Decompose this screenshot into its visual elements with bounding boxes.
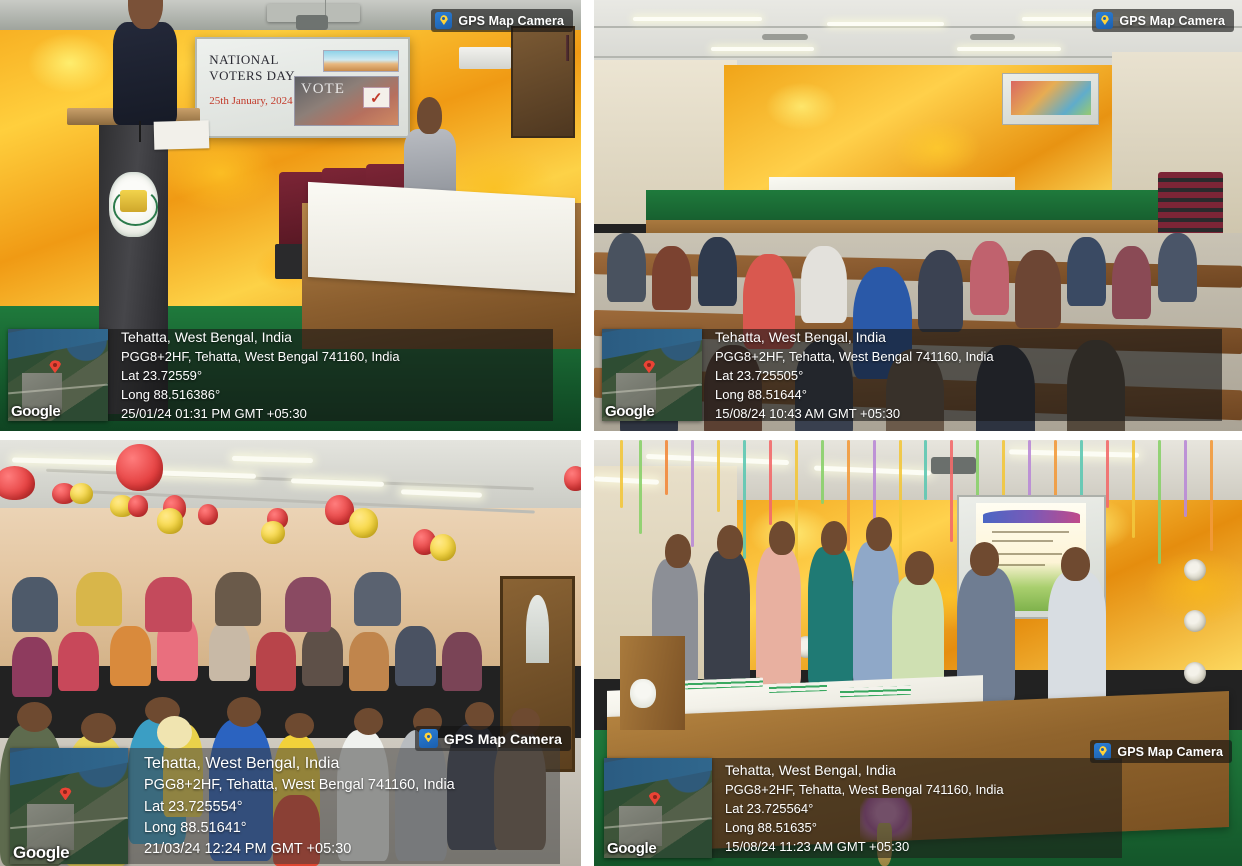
map-pin-marker-icon — [59, 787, 72, 800]
audience-person — [256, 632, 297, 692]
dais-person-head — [866, 517, 892, 551]
streamer — [743, 440, 746, 559]
gps-badge-label: GPS Map Camera — [458, 14, 564, 28]
streamer — [1132, 440, 1135, 538]
map-pin-marker-icon — [643, 360, 656, 373]
door — [511, 26, 575, 138]
audience-person — [209, 621, 250, 681]
streamer — [1184, 440, 1187, 517]
tube-light — [957, 47, 1061, 51]
streamer — [1106, 440, 1109, 508]
streamer — [899, 440, 902, 576]
audience-person — [970, 241, 1009, 314]
gps-text-block: Tehatta, West Bengal, India PGG8+2HF, Te… — [712, 758, 1122, 858]
gps-place: Tehatta, West Bengal, India — [725, 760, 1108, 780]
map-pin-icon — [435, 12, 452, 29]
gps-info-overlay: Google Tehatta, West Bengal, India PGG8+… — [602, 329, 1222, 421]
gps-longitude: Long 88.516386° — [121, 386, 539, 405]
google-watermark: Google — [13, 843, 69, 863]
gps-text-block: Tehatta, West Bengal, India PGG8+2HF, Te… — [108, 329, 553, 421]
streamer — [795, 440, 798, 568]
audience-head — [227, 697, 262, 727]
map-pin-icon — [1096, 12, 1113, 29]
balloon — [261, 521, 284, 544]
wall-medallion — [1184, 662, 1206, 684]
gps-place: Tehatta, West Bengal, India — [144, 752, 544, 775]
speaker-person — [113, 22, 177, 125]
podium-paper — [154, 120, 210, 149]
microphone-icon — [139, 121, 141, 143]
gps-timestamp: 15/08/24 10:43 AM GMT +05:30 — [715, 405, 1208, 424]
balloon — [198, 504, 218, 525]
dais-person-head — [665, 534, 691, 568]
balloon — [0, 466, 35, 500]
map-pin-icon — [419, 729, 438, 748]
balloon — [564, 466, 581, 492]
gps-badge-label: GPS Map Camera — [444, 731, 562, 747]
map-thumbnail[interactable]: Google — [604, 758, 712, 858]
map-river — [8, 329, 108, 361]
audience-person — [1112, 246, 1151, 319]
audience-person — [12, 637, 53, 697]
college-emblem — [109, 172, 158, 237]
slide-image-top — [323, 50, 399, 71]
dais-person-head — [970, 542, 999, 576]
photo-collage: VOTE NATIONAL VOTERS DAY 25th January, 2… — [0, 0, 1242, 866]
slide-title: NATIONAL VOTERS DAY — [209, 52, 306, 84]
gps-address: PGG8+2HF, Tehatta, West Bengal 741160, I… — [725, 781, 1108, 800]
streamer — [873, 440, 876, 521]
gps-badge-label: GPS Map Camera — [1119, 14, 1225, 28]
gps-longitude: Long 88.51644° — [715, 386, 1208, 405]
audience-person — [918, 250, 963, 332]
audience-head-scarf — [157, 716, 192, 749]
streamer — [717, 440, 720, 512]
map-thumbnail[interactable]: Google — [602, 329, 702, 421]
dais-person — [756, 547, 801, 688]
gps-timestamp: 15/08/24 11:23 AM GMT +05:30 — [725, 838, 1108, 857]
collage-panel-2[interactable]: GPS Map Camera Google Tehatta, West Beng… — [594, 0, 1242, 431]
balloon — [157, 508, 183, 534]
slide-date: 25th January, 2024 — [209, 95, 327, 108]
collage-panel-1[interactable]: VOTE NATIONAL VOTERS DAY 25th January, 2… — [0, 0, 581, 431]
gps-info-overlay: Google Tehatta, West Bengal, India PGG8+… — [8, 329, 553, 421]
dais-person — [1048, 572, 1106, 708]
dais-person-head — [769, 521, 795, 555]
tube-light — [711, 47, 815, 51]
map-pin-marker-icon — [648, 792, 661, 805]
map-river — [604, 758, 712, 793]
college-emblem — [630, 679, 656, 709]
gps-map-camera-badge: GPS Map Camera — [431, 9, 573, 32]
balloon — [349, 508, 378, 538]
balloon — [70, 483, 93, 504]
slide-text-line — [992, 564, 1045, 566]
google-watermark: Google — [607, 840, 656, 857]
wall-medallion — [1184, 559, 1206, 581]
dais-person — [808, 547, 853, 688]
curtain — [566, 35, 569, 61]
audience-head — [285, 713, 314, 738]
gps-address: PGG8+2HF, Tehatta, West Bengal 741160, I… — [121, 348, 539, 367]
slide-checkbox-icon — [363, 87, 390, 107]
dais-person-head — [905, 551, 934, 585]
audience-person — [395, 626, 436, 686]
gps-latitude: Lat 23.725554° — [144, 797, 544, 818]
audience-person — [349, 632, 390, 692]
balloon — [116, 444, 162, 491]
map-thumbnail[interactable]: Google — [10, 748, 128, 864]
gps-longitude: Long 88.51635° — [725, 819, 1108, 838]
projector-icon — [296, 15, 328, 31]
map-river — [602, 329, 702, 361]
streamer — [665, 440, 668, 495]
streamer — [769, 440, 772, 525]
gps-timestamp: 21/03/24 12:24 PM GMT +05:30 — [144, 839, 544, 860]
audience-person — [12, 577, 58, 632]
dais-person-head — [717, 525, 743, 559]
streamer — [847, 440, 850, 551]
gps-latitude: Lat 23.725505° — [715, 367, 1208, 386]
audience-person — [110, 626, 151, 686]
audience-person — [302, 626, 343, 686]
audience-head — [354, 708, 383, 735]
tube-light — [633, 17, 763, 21]
collage-panel-4[interactable]: GPS Map Camera Google Tehatta, West Beng… — [594, 440, 1242, 866]
slide-text-line — [992, 531, 1069, 533]
streamer — [821, 440, 824, 504]
tube-light — [827, 22, 944, 26]
streamer — [620, 440, 623, 508]
slide-text-line — [992, 553, 1063, 555]
audience-person — [215, 572, 261, 627]
map-pin-marker-icon — [49, 360, 62, 373]
audience-person — [58, 632, 99, 692]
streamer — [950, 440, 953, 542]
gps-timestamp: 25/01/24 01:31 PM GMT +05:30 — [121, 405, 539, 424]
audience-person — [354, 572, 400, 627]
slide-text-line — [992, 540, 1054, 542]
slide-title-band — [983, 510, 1080, 523]
projection-screen: VOTE NATIONAL VOTERS DAY 25th January, 2… — [195, 37, 410, 138]
audience-person — [801, 246, 846, 324]
google-watermark: Google — [11, 403, 60, 420]
dais-person-head — [1061, 547, 1090, 581]
gps-latitude: Lat 23.72559° — [121, 367, 539, 386]
gps-text-block: Tehatta, West Bengal, India PGG8+2HF, Te… — [702, 329, 1222, 421]
gps-badge-label: GPS Map Camera — [1117, 745, 1223, 759]
audience-person — [76, 572, 122, 627]
audience-person — [607, 233, 646, 302]
map-river — [10, 748, 128, 788]
google-watermark: Google — [605, 403, 654, 420]
table-cloth — [308, 181, 575, 292]
streamer — [1158, 440, 1161, 564]
dais-person — [704, 551, 749, 687]
projection-screen — [1002, 73, 1099, 125]
audience-person — [145, 577, 191, 632]
speaker-head — [128, 0, 163, 29]
balloon — [430, 534, 456, 562]
audience-person — [442, 632, 483, 692]
audience-person — [1067, 237, 1106, 306]
wall-medallion — [1184, 610, 1206, 632]
audience-person — [1158, 233, 1197, 302]
gps-longitude: Long 88.51641° — [144, 818, 544, 839]
gps-place: Tehatta, West Bengal, India — [121, 327, 539, 347]
streamer — [1210, 440, 1213, 551]
audience-person — [652, 246, 691, 311]
audience-person — [1015, 250, 1060, 328]
gps-address: PGG8+2HF, Tehatta, West Bengal 741160, I… — [715, 348, 1208, 367]
gps-info-overlay: Google Tehatta, West Bengal, India PGG8+… — [604, 758, 1122, 858]
air-conditioner — [459, 47, 511, 69]
gps-map-camera-badge: GPS Map Camera — [1092, 9, 1234, 32]
ceiling-fan — [970, 34, 1015, 40]
gps-text-block: Tehatta, West Bengal, India PGG8+2HF, Te… — [128, 748, 560, 864]
dais-person-head — [821, 521, 847, 555]
streamer — [691, 440, 694, 547]
map-thumbnail[interactable]: Google — [8, 329, 108, 421]
gps-latitude: Lat 23.725564° — [725, 800, 1108, 819]
projector-icon — [931, 457, 976, 474]
ceiling-fan — [762, 34, 807, 40]
audience-person — [285, 577, 331, 632]
streamer — [639, 440, 642, 534]
gps-info-overlay: Google Tehatta, West Bengal, India PGG8+… — [10, 748, 560, 864]
audience-person — [698, 237, 737, 306]
collage-panel-3[interactable]: GPS Map Camera Google Tehatta, West Beng… — [0, 440, 581, 866]
gps-place: Tehatta, West Bengal, India — [715, 327, 1208, 347]
gps-address: PGG8+2HF, Tehatta, West Bengal 741160, I… — [144, 775, 544, 796]
balloon — [128, 495, 148, 516]
